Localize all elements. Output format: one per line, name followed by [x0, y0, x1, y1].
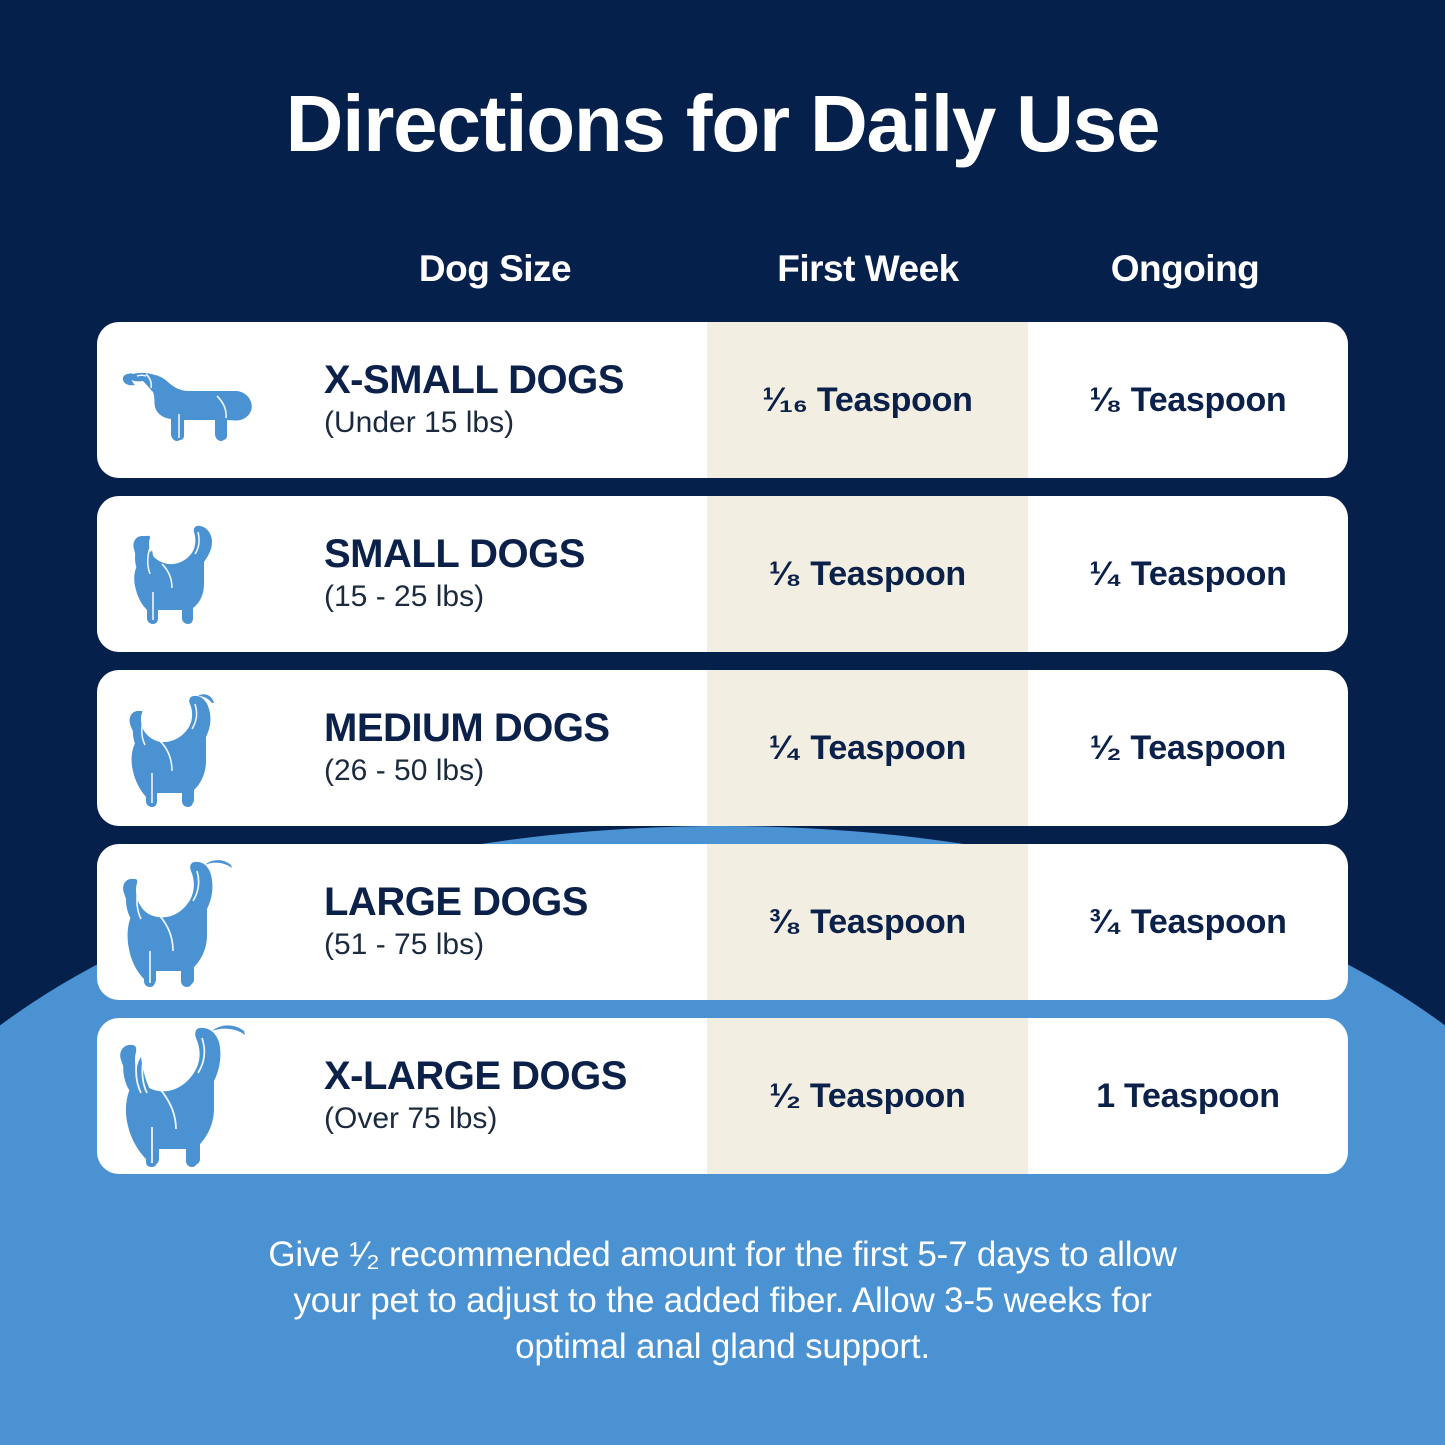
ongoing-dose: ¹⁄₄ Teaspoon — [1028, 496, 1348, 652]
dog-size-cell: SMALL DOGS (15 - 25 lbs) — [290, 533, 707, 615]
ongoing-dose: ¹⁄₈ Teaspoon — [1028, 322, 1348, 478]
table-row: X-LARGE DOGS (Over 75 lbs) ¹⁄₂ Teaspoon … — [97, 1018, 1348, 1174]
dog-size-cell: MEDIUM DOGS (26 - 50 lbs) — [290, 707, 707, 789]
dog-size-cell: X-LARGE DOGS (Over 75 lbs) — [290, 1055, 707, 1137]
column-headers: Dog Size First Week Ongoing — [97, 248, 1348, 298]
dog-weight-label: (26 - 50 lbs) — [324, 753, 707, 789]
first-week-dose-value: ¹⁄₄ Teaspoon — [769, 729, 966, 768]
dog-weight-label: (Under 15 lbs) — [324, 405, 707, 441]
dosage-note-line-3: optimal anal gland support. — [160, 1324, 1285, 1370]
dog-size-label: X-LARGE DOGS — [324, 1055, 707, 1097]
first-week-dose: ¹⁄₁₆ Teaspoon — [707, 322, 1028, 478]
first-week-dose-value: ³⁄₈ Teaspoon — [769, 903, 966, 942]
table-row: SMALL DOGS (15 - 25 lbs) ¹⁄₈ Teaspoon ¹⁄… — [97, 496, 1348, 652]
dog-size-label: MEDIUM DOGS — [324, 707, 707, 749]
first-week-dose: ¹⁄₈ Teaspoon — [707, 496, 1028, 652]
dosage-note-line-2: your pet to adjust to the added fiber. A… — [160, 1278, 1285, 1324]
dog-weight-label: (15 - 25 lbs) — [324, 579, 707, 615]
page-title: Directions for Daily Use — [0, 84, 1445, 164]
dosage-note: Give ¹⁄₂ recommended amount for the firs… — [160, 1232, 1285, 1371]
ongoing-dose: 1 Teaspoon — [1028, 1018, 1348, 1174]
first-week-dose: ¹⁄₂ Teaspoon — [707, 1018, 1028, 1174]
dosage-table: X-SMALL DOGS (Under 15 lbs) ¹⁄₁₆ Teaspoo… — [97, 322, 1348, 1174]
ongoing-dose-value: ¹⁄₈ Teaspoon — [1090, 381, 1287, 420]
dog-weight-label: (51 - 75 lbs) — [324, 927, 707, 963]
dosage-note-line-1: Give ¹⁄₂ recommended amount for the firs… — [160, 1232, 1285, 1278]
ongoing-dose-value: 1 Teaspoon — [1096, 1077, 1279, 1116]
bloodhound-dog-icon — [97, 1018, 290, 1174]
pointer-dog-icon — [97, 844, 290, 1000]
ongoing-dose-value: ¹⁄₄ Teaspoon — [1089, 555, 1286, 594]
dachshund-dog-icon — [97, 322, 290, 478]
column-header-first-week: First Week — [777, 248, 958, 290]
table-row: MEDIUM DOGS (26 - 50 lbs) ¹⁄₄ Teaspoon ¹… — [97, 670, 1348, 826]
dog-size-label: X-SMALL DOGS — [324, 359, 707, 401]
basset-hound-dog-icon — [97, 496, 290, 652]
dog-weight-label: (Over 75 lbs) — [324, 1101, 707, 1137]
dog-size-label: LARGE DOGS — [324, 881, 707, 923]
column-header-ongoing: Ongoing — [1111, 248, 1260, 290]
ongoing-dose-value: ³⁄₄ Teaspoon — [1089, 903, 1286, 942]
table-row: X-SMALL DOGS (Under 15 lbs) ¹⁄₁₆ Teaspoo… — [97, 322, 1348, 478]
ongoing-dose-value: ¹⁄₂ Teaspoon — [1090, 729, 1286, 768]
beagle-dog-icon — [97, 670, 290, 826]
dog-size-cell: X-SMALL DOGS (Under 15 lbs) — [290, 359, 707, 441]
first-week-dose-value: ¹⁄₂ Teaspoon — [769, 1077, 965, 1116]
first-week-dose: ³⁄₈ Teaspoon — [707, 844, 1028, 1000]
dog-size-cell: LARGE DOGS (51 - 75 lbs) — [290, 881, 707, 963]
ongoing-dose: ³⁄₄ Teaspoon — [1028, 844, 1348, 1000]
first-week-dose: ¹⁄₄ Teaspoon — [707, 670, 1028, 826]
dog-size-label: SMALL DOGS — [324, 533, 707, 575]
first-week-dose-value: ¹⁄₁₆ Teaspoon — [762, 381, 972, 420]
first-week-dose-value: ¹⁄₈ Teaspoon — [769, 555, 966, 594]
column-header-dog-size: Dog Size — [419, 248, 571, 290]
table-row: LARGE DOGS (51 - 75 lbs) ³⁄₈ Teaspoon ³⁄… — [97, 844, 1348, 1000]
ongoing-dose: ¹⁄₂ Teaspoon — [1028, 670, 1348, 826]
